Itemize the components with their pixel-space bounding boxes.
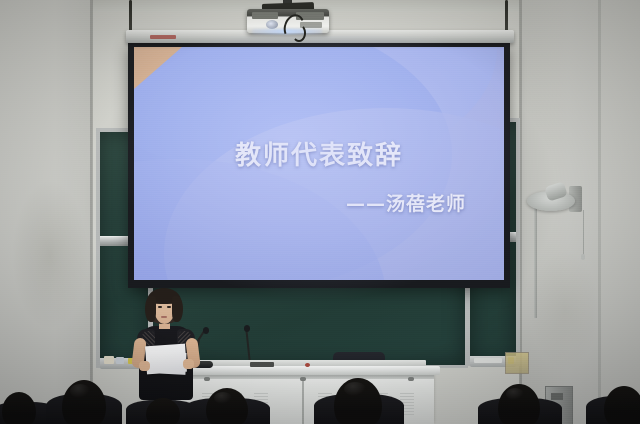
slide-title: 教师代表致辞 (134, 135, 504, 172)
microphone-2-head (244, 325, 250, 332)
electrical-panel-label (551, 393, 563, 400)
podium-knob-right[interactable] (408, 377, 414, 381)
screen-brand-logo (150, 35, 176, 39)
wall-notice-board (505, 352, 529, 374)
slide-subtitle: ——汤蓓老师 (346, 189, 466, 216)
audience-head-3 (146, 398, 180, 424)
podium-door-seam (302, 379, 304, 424)
right-wall-pillar (520, 0, 640, 424)
audience-head-7 (604, 386, 640, 424)
presentation-slide: 教师代表致辞 ——汤蓓老师 (134, 47, 504, 280)
fan-pull-cord[interactable] (583, 210, 584, 256)
screen-surface: 教师代表致辞 ——汤蓓老师 (134, 47, 504, 280)
far-right-pillar-edge (598, 0, 601, 424)
microphone-head (203, 327, 209, 334)
fan-pull-cord-knob[interactable] (581, 254, 585, 260)
chalk-eraser (474, 358, 502, 363)
audience-head-1 (2, 392, 36, 424)
screen-strap-right (505, 0, 508, 34)
audience-head-2-highlight (70, 384, 90, 398)
speaker-mouth (161, 316, 167, 318)
chalk-box-1 (104, 356, 114, 364)
podium-knob-center[interactable] (300, 377, 306, 381)
podium-knob-left[interactable] (204, 377, 210, 381)
desk-slot (250, 362, 274, 367)
speaker-hand-right (183, 359, 194, 369)
left-pillar-edge (90, 0, 93, 424)
speaker-eye-left (158, 306, 162, 308)
chalk-box-2 (116, 357, 124, 364)
audience-head-6-highlight (506, 388, 524, 400)
speaker-eye-right (167, 306, 171, 308)
audience-head-4-highlight (214, 392, 232, 404)
audience-head-5-highlight (344, 382, 366, 396)
speech-papers-second-sheet (149, 351, 186, 375)
projector-cable-loop (292, 24, 306, 42)
speaker-hair-side-right (172, 296, 183, 322)
left-wall-pillar (0, 0, 92, 424)
classroom-photo: 教师代表致辞 ——汤蓓老师 (0, 0, 640, 424)
speaker-hand-left (139, 361, 150, 371)
screen-strap-left (129, 0, 132, 34)
speaker-hair-side-left (145, 296, 156, 322)
projection-screen[interactable]: 教师代表致辞 ——汤蓓老师 (128, 43, 510, 288)
fan-support-pole (534, 208, 537, 318)
desk-indicator-light (305, 363, 310, 367)
projector-vent-left (252, 12, 278, 19)
projector-lens (266, 20, 278, 29)
